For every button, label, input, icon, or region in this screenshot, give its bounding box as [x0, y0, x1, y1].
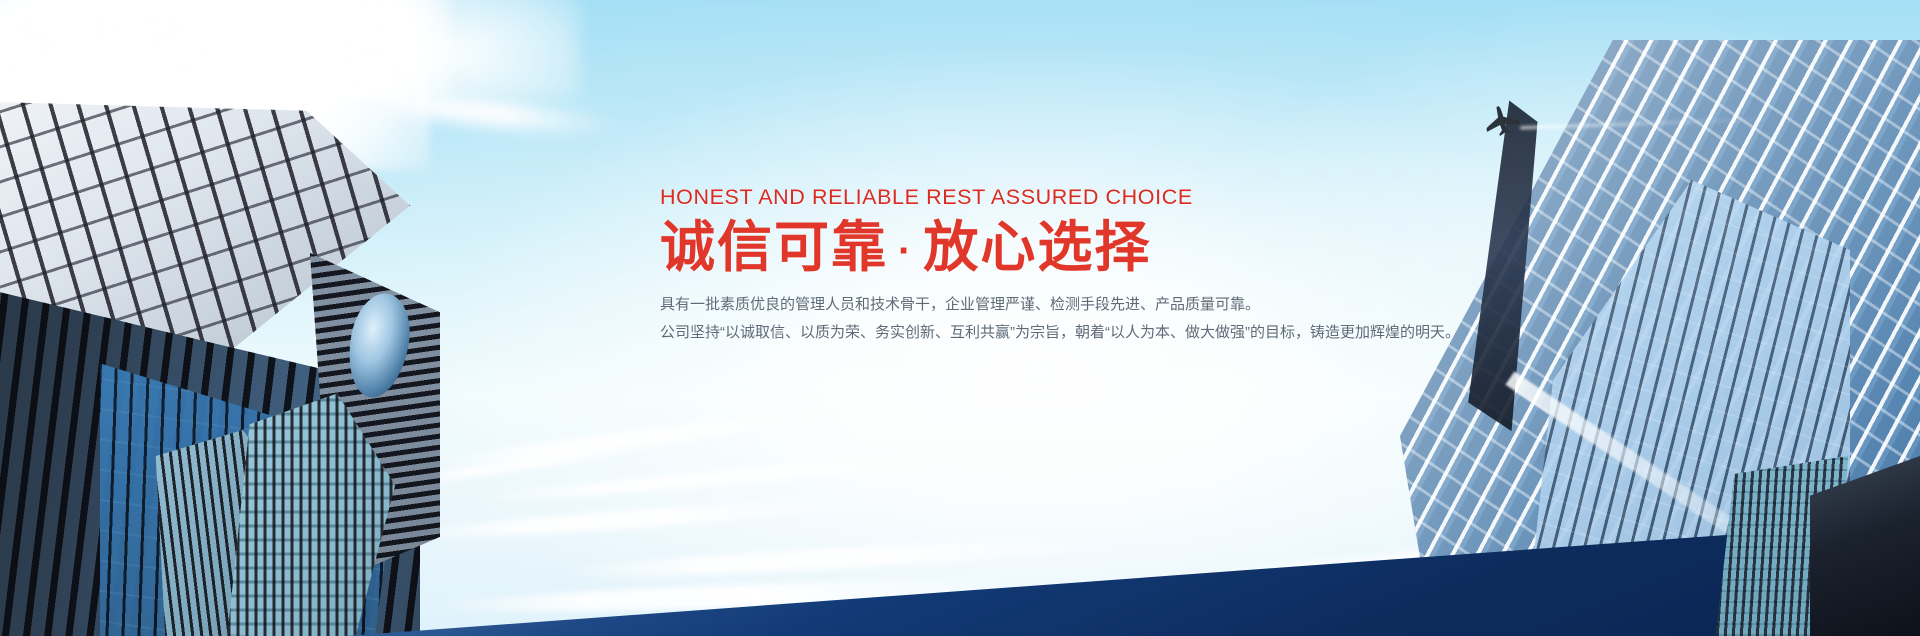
headline-separator-dot: · [888, 229, 923, 273]
description-line-2: 公司坚持“以诚取信、以质为荣、务实创新、互利共赢”为宗旨，朝着“以人为本、做大做… [660, 319, 1360, 347]
banner-description: 具有一批素质优良的管理人员和技术骨干，企业管理严谨、检测手段先进、产品质量可靠。… [660, 291, 1360, 347]
cloud-wisp-4 [560, 533, 1120, 582]
banner-copy-block: HONEST AND RELIABLE REST ASSURED CHOICE … [660, 186, 1360, 347]
banner-headline-english: HONEST AND RELIABLE REST ASSURED CHOICE [660, 186, 1360, 210]
hero-banner: HONEST AND RELIABLE REST ASSURED CHOICE … [0, 0, 1920, 636]
cloud-wisp-3 [400, 494, 870, 545]
headline-chinese-part-1: 诚信可靠 [660, 216, 888, 278]
headline-chinese-part-2: 放心选择 [923, 216, 1151, 278]
description-line-1: 具有一批素质优良的管理人员和技术骨干，企业管理严谨、检测手段先进、产品质量可靠。 [660, 291, 1360, 319]
banner-headline-chinese: 诚信可靠·放心选择 [660, 216, 1360, 280]
